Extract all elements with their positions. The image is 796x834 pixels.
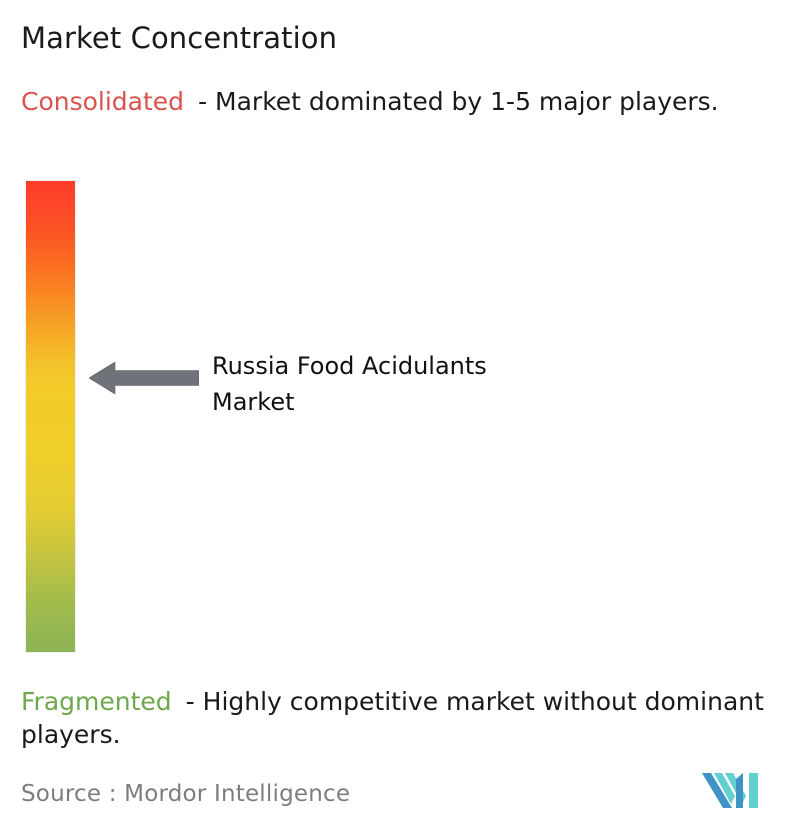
market-concentration-infographic: Market Concentration Consolidated- Marke… (0, 0, 796, 834)
marker-arrow (89, 359, 199, 397)
source-value: Mordor Intelligence (124, 781, 350, 807)
legend-consolidated: Consolidated- Market dominated by 1-5 ma… (21, 85, 777, 118)
concentration-gradient-bar (26, 181, 75, 652)
source-label: Source : (21, 781, 117, 807)
marker-label-line2: Market (212, 384, 592, 420)
marker-label: Russia Food Acidulants Market (212, 348, 592, 420)
legend-consolidated-description: - Market dominated by 1-5 major players. (198, 87, 719, 116)
mordor-intelligence-logo (702, 769, 766, 812)
source-line: Source : Mordor Intelligence (21, 779, 350, 809)
legend-fragmented-keyword: Fragmented (21, 687, 172, 716)
legend-fragmented: Fragmented- Highly competitive market wi… (21, 685, 789, 751)
page-title: Market Concentration (21, 20, 337, 56)
marker-label-line1: Russia Food Acidulants (212, 348, 592, 384)
legend-consolidated-keyword: Consolidated (21, 87, 184, 116)
